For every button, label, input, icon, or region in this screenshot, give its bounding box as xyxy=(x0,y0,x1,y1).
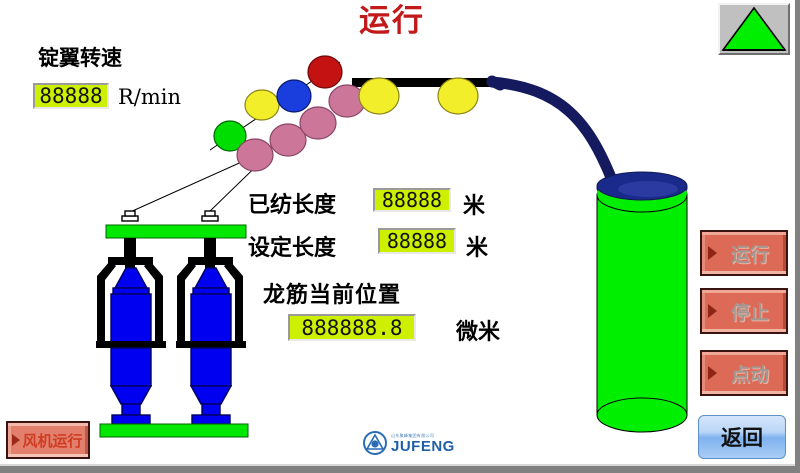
play-arrow-icon xyxy=(708,304,717,318)
back-button-label: 返回 xyxy=(721,422,763,452)
jufeng-mark-icon xyxy=(362,430,388,456)
play-arrow-icon xyxy=(708,246,717,260)
jog-button-label: 点动 xyxy=(731,360,769,387)
spun-length-unit: 米 xyxy=(463,188,485,220)
run-button[interactable]: 运行 xyxy=(700,230,788,276)
rail-position-unit: 微米 xyxy=(456,314,500,346)
brand-logo: 山东聚峰集团有限公司 JUFENG xyxy=(362,428,462,458)
spun-length-value[interactable]: 88888 xyxy=(373,188,451,212)
flyer-speed-value[interactable]: 88888 xyxy=(33,83,109,109)
set-length-unit: 米 xyxy=(466,230,488,262)
spun-length-label: 已纺长度 xyxy=(248,187,336,219)
play-arrow-icon xyxy=(708,366,717,380)
flyer-speed-label: 锭翼转速 xyxy=(38,42,122,72)
stop-button[interactable]: 停止 xyxy=(700,288,788,334)
brand-name: JUFENG xyxy=(391,439,455,454)
set-length-value[interactable]: 88888 xyxy=(378,228,456,254)
rail-position-value[interactable]: 888888.8 xyxy=(288,314,416,341)
fan-run-button-label: 风机运行 xyxy=(22,430,82,451)
play-arrow-icon xyxy=(12,434,20,446)
back-button[interactable]: 返回 xyxy=(698,415,786,459)
flyer-speed-unit: R/min xyxy=(118,85,181,109)
fan-run-button[interactable]: 风机运行 xyxy=(6,421,90,459)
jog-button[interactable]: 点动 xyxy=(700,350,788,396)
run-button-label: 运行 xyxy=(731,240,769,267)
hmi-screen: 运行 xyxy=(0,0,800,473)
rail-position-label: 龙筋当前位置 xyxy=(263,277,401,309)
set-length-label: 设定长度 xyxy=(248,230,336,262)
stop-button-label: 停止 xyxy=(731,298,769,325)
